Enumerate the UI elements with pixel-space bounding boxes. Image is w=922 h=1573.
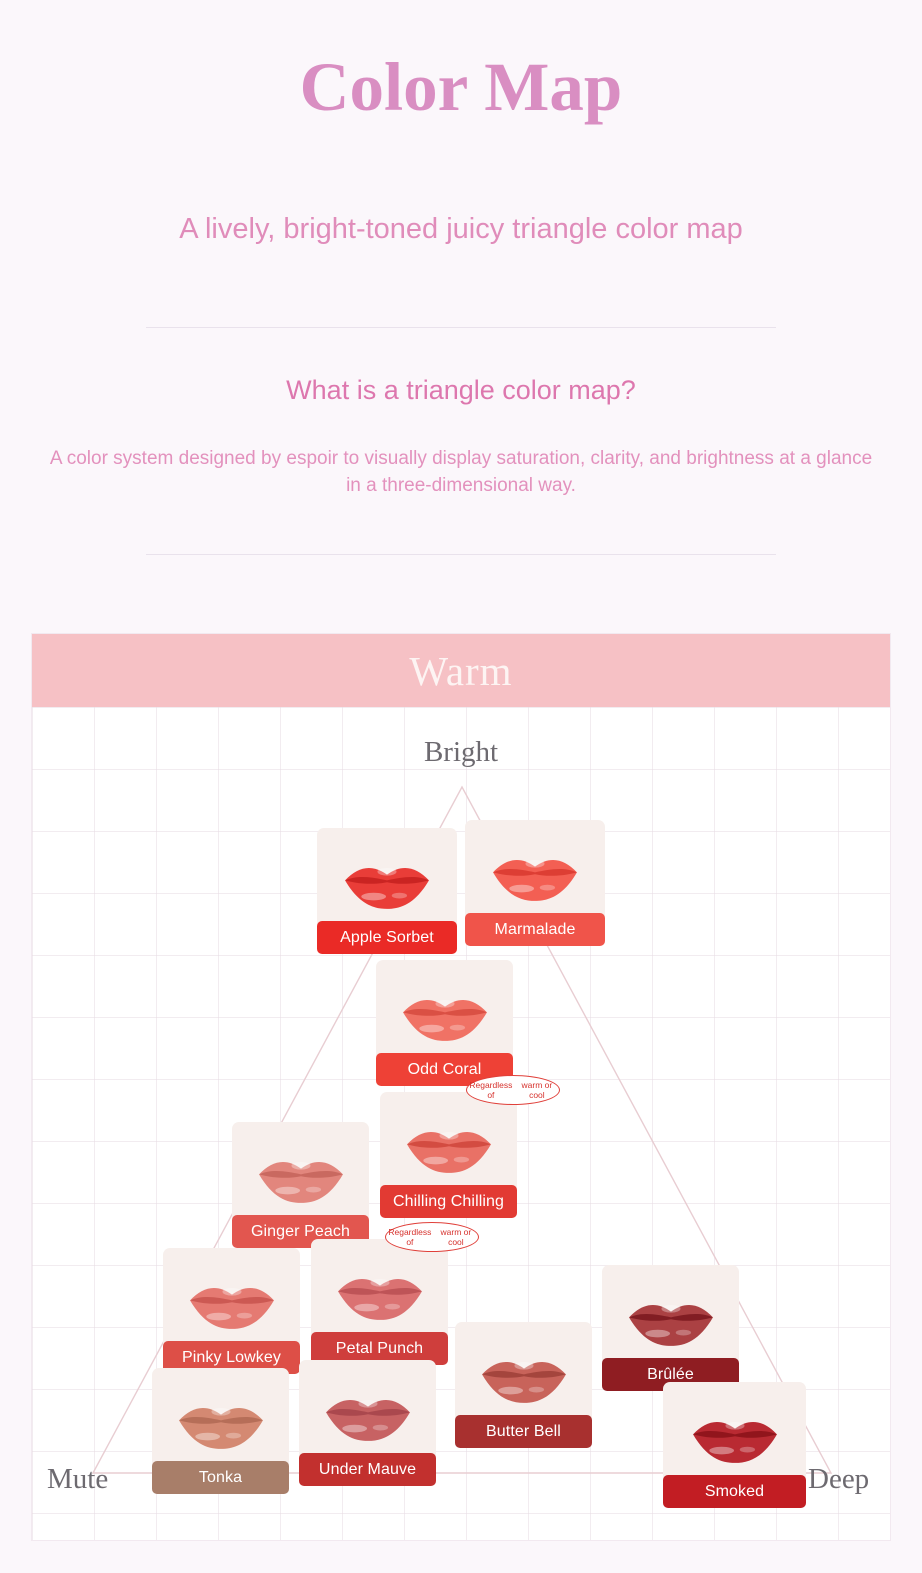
swatch-name-label: Chilling Chilling: [380, 1185, 517, 1218]
color-swatch[interactable]: Tonka: [152, 1368, 289, 1478]
swatch-name-label: Butter Bell: [455, 1415, 592, 1448]
explainer-question: What is a triangle color map?: [0, 371, 922, 409]
color-swatch[interactable]: Butter Bell: [455, 1322, 592, 1432]
lip-illustration: [178, 1276, 285, 1333]
badge-line-2: warm or cool: [434, 1227, 478, 1247]
lip-illustration: [395, 1120, 502, 1177]
axis-label-deep: Deep: [808, 1462, 869, 1496]
lip-illustration: [617, 1293, 724, 1350]
badge-line-2: warm or cool: [515, 1080, 559, 1100]
regardless-warm-cool-badge: Regardless ofwarm or cool: [385, 1222, 479, 1252]
lip-illustration: [470, 1350, 577, 1407]
color-swatch[interactable]: Pinky Lowkey: [163, 1248, 300, 1358]
tone-banner: Warm: [32, 634, 890, 707]
color-map-page: Color Map A lively, bright-toned juicy t…: [0, 0, 922, 1573]
color-swatch[interactable]: Brûlée: [602, 1265, 739, 1375]
page-title: Color Map: [0, 47, 922, 127]
swatch-name-label: Marmalade: [465, 913, 605, 946]
color-swatch[interactable]: Under Mauve: [299, 1360, 436, 1470]
color-swatch[interactable]: Apple Sorbet: [317, 828, 457, 938]
lip-illustration: [391, 988, 498, 1045]
color-swatch[interactable]: Chilling ChillingRegardless ofwarm or co…: [380, 1092, 517, 1202]
divider-bottom: [146, 554, 776, 555]
color-swatch[interactable]: Ginger Peach: [232, 1122, 369, 1232]
swatch-name-label: Smoked: [663, 1475, 806, 1508]
lip-illustration: [167, 1396, 274, 1453]
swatch-name-label: Tonka: [152, 1461, 289, 1494]
axis-label-mute: Mute: [47, 1462, 108, 1496]
divider-top: [146, 327, 776, 328]
color-swatch[interactable]: Smoked: [663, 1382, 806, 1492]
lip-illustration: [480, 848, 589, 905]
axis-label-bright: Bright: [0, 735, 922, 769]
lip-illustration: [314, 1388, 421, 1445]
page-subtitle: A lively, bright-toned juicy triangle co…: [0, 208, 922, 250]
lip-illustration: [247, 1150, 354, 1207]
swatch-name-label: Under Mauve: [299, 1453, 436, 1486]
tone-label: Warm: [409, 647, 512, 695]
explainer-answer: A color system designed by espoir to vis…: [40, 445, 882, 499]
swatch-name-label: Apple Sorbet: [317, 921, 457, 954]
lip-illustration: [326, 1267, 433, 1324]
color-swatch[interactable]: Marmalade: [465, 820, 605, 930]
regardless-warm-cool-badge: Regardless ofwarm or cool: [466, 1075, 560, 1105]
color-swatch[interactable]: Petal PunchRegardless ofwarm or cool: [311, 1239, 448, 1349]
lip-illustration: [332, 856, 441, 913]
badge-line-1: Regardless of: [467, 1080, 515, 1100]
color-swatch[interactable]: Odd Coral: [376, 960, 513, 1070]
lip-illustration: [679, 1410, 791, 1467]
badge-line-1: Regardless of: [386, 1227, 434, 1247]
